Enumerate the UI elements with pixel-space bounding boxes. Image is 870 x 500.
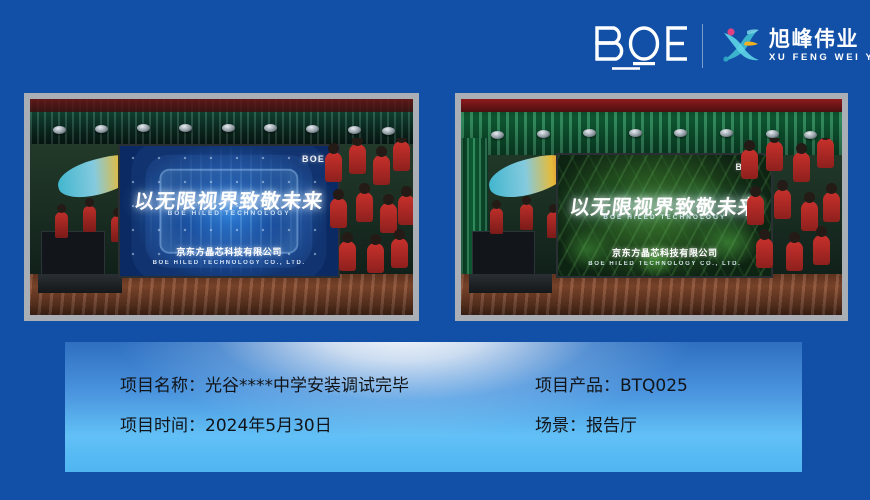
project-product-row: 项目产品：BTQ025 (535, 366, 688, 406)
stage-lights (30, 121, 413, 138)
boe-logo (592, 22, 692, 70)
partner-name-cn: 旭峰伟业 (769, 28, 870, 50)
xufeng-bird-x-icon (717, 25, 763, 67)
right-photo: BOE 以无限视界致敬未来 BOE HiLED TECHNOLOGY 京东方晶芯… (461, 99, 842, 315)
project-name-row: 项目名称：光谷****中学安装调试完毕 (120, 366, 409, 406)
led-slogan-en: BOE HiLED TECHNOLOGY (120, 210, 338, 217)
led-company-en: BOE HILED TECHNOLOGY CO., LTD. (120, 260, 338, 266)
led-wall-left: BOE 以无限视界致敬未来 BOE HiLED TECHNOLOGY 京东方晶芯… (118, 144, 340, 278)
info-panel: 项目名称：光谷****中学安装调试完毕 项目时间：2024年5月30日 项目产品… (65, 342, 802, 472)
slide-background: 旭峰伟业 XU FENG WEI YE (0, 0, 870, 500)
red-valance (30, 99, 413, 112)
project-date-row: 项目时间：2024年5月30日 (120, 406, 409, 446)
partner-name-en: XU FENG WEI YE (769, 52, 870, 64)
info-column-left: 项目名称：光谷****中学安装调试完毕 项目时间：2024年5月30日 (120, 366, 409, 446)
photo-frame-right: BOE 以无限视界致敬未来 BOE HiLED TECHNOLOGY 京东方晶芯… (455, 93, 848, 321)
audience-crowd-right (739, 138, 842, 281)
photo-frame-left: BOE 以无限视界致敬未来 BOE HiLED TECHNOLOGY 京东方晶芯… (24, 93, 419, 321)
left-photo: BOE 以无限视界致敬未来 BOE HiLED TECHNOLOGY 京东方晶芯… (30, 99, 413, 315)
partner-logo: 旭峰伟业 XU FENG WEI YE (717, 25, 870, 67)
logo-divider (702, 24, 703, 68)
logo-lockup: 旭峰伟业 XU FENG WEI YE (592, 18, 852, 74)
project-scene-row: 场景：报告厅 (535, 406, 688, 446)
red-pelmet (461, 99, 842, 112)
stage-lights (461, 121, 842, 138)
audience-crowd-left (321, 138, 413, 281)
info-column-right: 项目产品：BTQ025 场景：报告厅 (535, 366, 688, 446)
led-company-cn: 京东方晶芯科技有限公司 (120, 245, 338, 258)
